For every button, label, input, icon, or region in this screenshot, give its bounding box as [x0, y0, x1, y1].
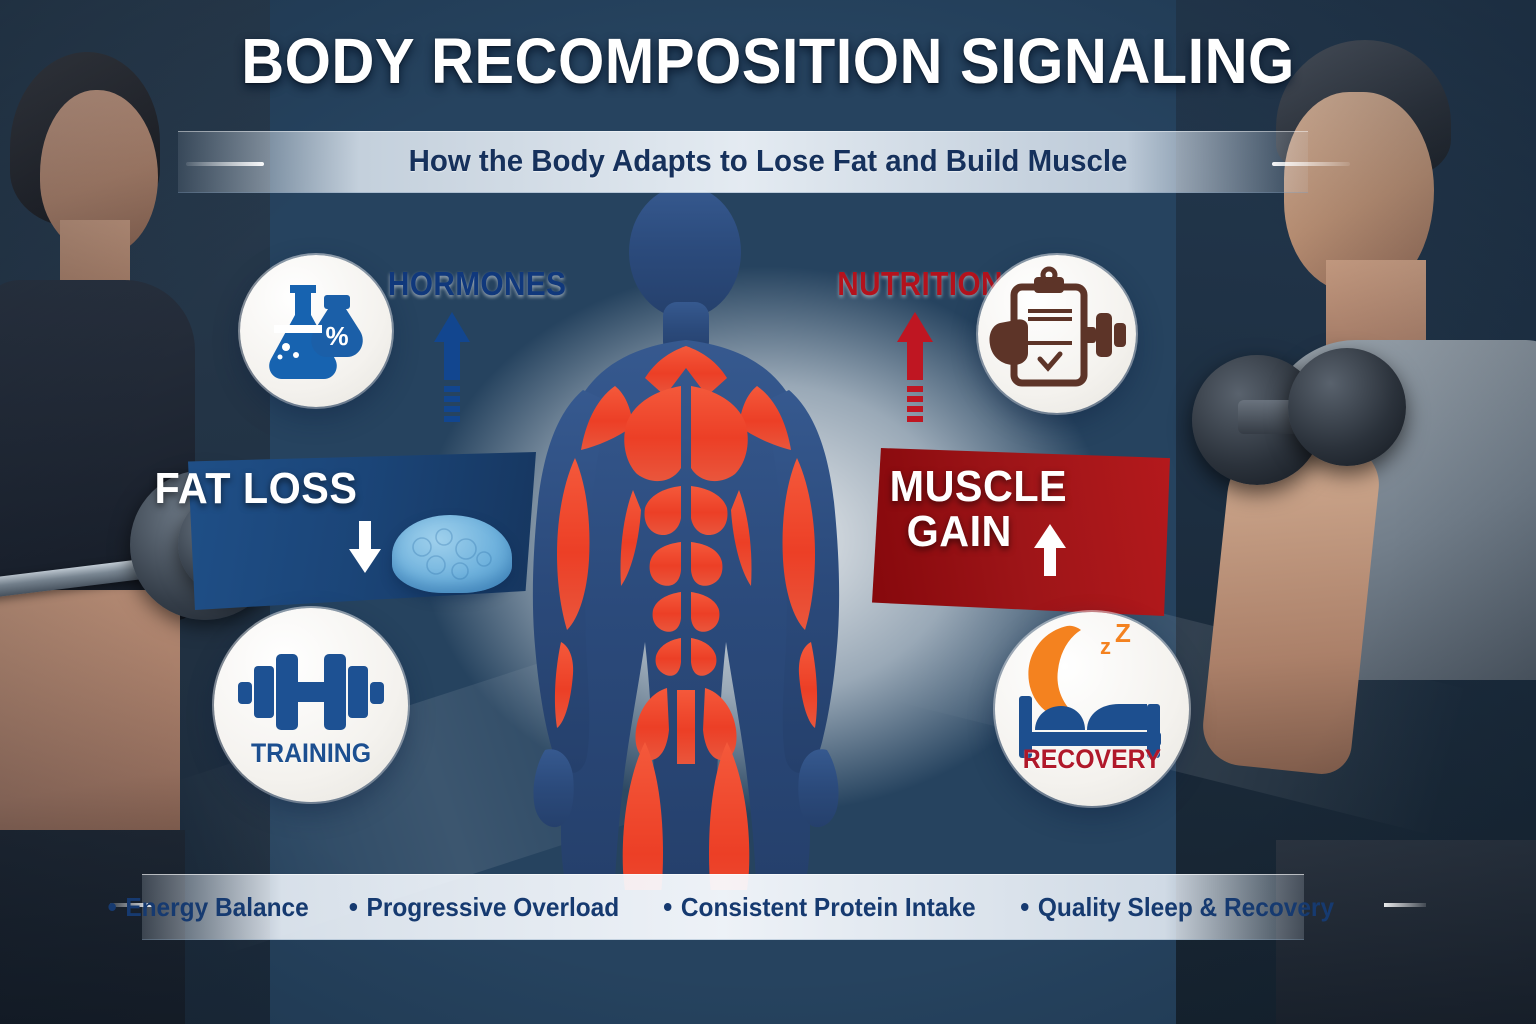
dumbbell-icon [214, 608, 408, 802]
clipboard-dumbbell-icon [978, 255, 1136, 413]
footer-bullet-label: Energy Balance [125, 892, 308, 923]
bullet-dot-icon [108, 903, 116, 911]
nutrition-icon-circle[interactable] [978, 255, 1136, 413]
page-title: BODY RECOMPOSITION SIGNALING [54, 24, 1482, 98]
footer-bullet-label: Progressive Overload [366, 892, 619, 923]
recovery-label: RECOVERY [1003, 744, 1181, 775]
up-arrow-icon [893, 310, 937, 431]
fat-tissue-icon [392, 515, 512, 593]
footer-bullet-label: Consistent Protein Intake [681, 892, 976, 923]
svg-text:%: % [325, 321, 348, 351]
svg-text:Z: Z [1115, 618, 1131, 648]
bullet-dot-icon [1021, 903, 1029, 911]
muscle-gain-line1: MUSCLE [890, 462, 1067, 511]
up-arrow-icon [430, 310, 474, 431]
up-arrow-icon [1030, 522, 1070, 578]
footer-bullet-item: Energy Balance [108, 892, 308, 923]
footer-dash-right [1384, 903, 1426, 907]
training-label: TRAINING [222, 738, 400, 769]
footer-bullet-label: Quality Sleep & Recovery [1038, 892, 1334, 923]
training-icon-circle[interactable]: TRAINING [214, 608, 408, 802]
hormones-icon-circle[interactable]: % [240, 255, 392, 407]
fat-loss-label: FAT LOSS [154, 467, 357, 512]
svg-text:z: z [1100, 634, 1111, 659]
down-arrow-icon [345, 521, 385, 575]
infographic-canvas: BODY RECOMPOSITION SIGNALING How the Bod… [0, 0, 1536, 1024]
bullet-dot-icon [349, 903, 357, 911]
bullet-dot-icon [664, 903, 672, 911]
hormones-label: HORMONES [388, 265, 567, 303]
recovery-icon-circle[interactable]: z Z RECOVERY [995, 612, 1189, 806]
footer-bullet-item: Quality Sleep & Recovery [1021, 892, 1334, 923]
footer-bullet-item: Progressive Overload [349, 892, 619, 923]
page-subtitle: How the Body Adapts to Lose Fat and Buil… [38, 143, 1497, 179]
flask-percent-icon: % [240, 255, 392, 407]
moon-bed-zzz-icon: z Z [995, 612, 1189, 806]
footer-bullet-bar: Energy Balance Progressive Overload Cons… [142, 874, 1304, 940]
muscle-gain-line2: GAIN [907, 510, 1012, 555]
footer-bullet-item: Consistent Protein Intake [664, 892, 976, 923]
